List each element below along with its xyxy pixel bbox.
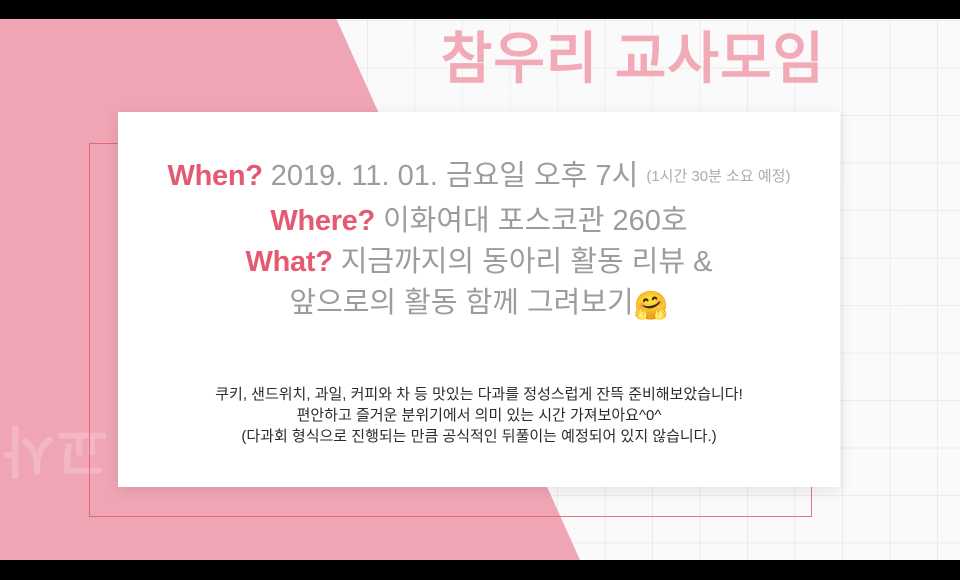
info-value-when: 2019. 11. 01. 금요일 오후 7시: [271, 160, 639, 192]
info-note-when: (1시간 30분 소요 예정): [646, 168, 790, 185]
info-card: When? 2019. 11. 01. 금요일 오후 7시 (1시간 30분 소…: [118, 112, 840, 487]
paragraph-line-1: 쿠키, 샌드위치, 과일, 커피와 차 등 맛있는 다과를 정성스럽게 잔뜩 준…: [118, 384, 840, 405]
paragraph-line-3: (다과회 형식으로 진행되는 만큼 공식적인 뒤풀이는 예정되어 있지 않습니다…: [118, 426, 840, 447]
info-line-where: Where? 이화여대 포스코관 260호: [118, 201, 840, 242]
info-lines-group: When? 2019. 11. 01. 금요일 오후 7시 (1시간 30분 소…: [118, 156, 840, 326]
info-value-what: 지금까지의 동아리 활동 리뷰 &: [341, 246, 713, 278]
slide-stage: 교사모임 참우리 교사모임 When? 2019. 11. 01. 금요일 오후…: [0, 0, 960, 580]
info-value-where: 이화여대 포스코관 260호: [383, 205, 688, 237]
info-line-what: What? 지금까지의 동아리 활동 리뷰 &: [118, 242, 840, 283]
hugging-face-icon: 🤗: [634, 290, 669, 321]
info-label-where: Where?: [270, 205, 375, 237]
info-label-when: When?: [168, 160, 263, 192]
paragraph-line-2: 편안하고 즐거운 분위기에서 의미 있는 시간 가져보아요^0^: [118, 405, 840, 426]
info-line-what-continued: 앞으로의 활동 함께 그려보기🤗: [118, 283, 840, 326]
info-line-when: When? 2019. 11. 01. 금요일 오후 7시 (1시간 30분 소…: [118, 156, 840, 201]
info-value-what-continued: 앞으로의 활동 함께 그려보기: [289, 287, 633, 319]
letterbox-bar-top: [0, 0, 960, 19]
info-label-what: What?: [246, 246, 333, 278]
letterbox-bar-bottom: [0, 560, 960, 580]
slide-canvas: 교사모임 참우리 교사모임 When? 2019. 11. 01. 금요일 오후…: [0, 19, 960, 560]
slide-headline: 참우리 교사모임: [0, 30, 825, 87]
paragraph-group: 쿠키, 샌드위치, 과일, 커피와 차 등 맛있는 다과를 정성스럽게 잔뜩 준…: [118, 384, 840, 447]
